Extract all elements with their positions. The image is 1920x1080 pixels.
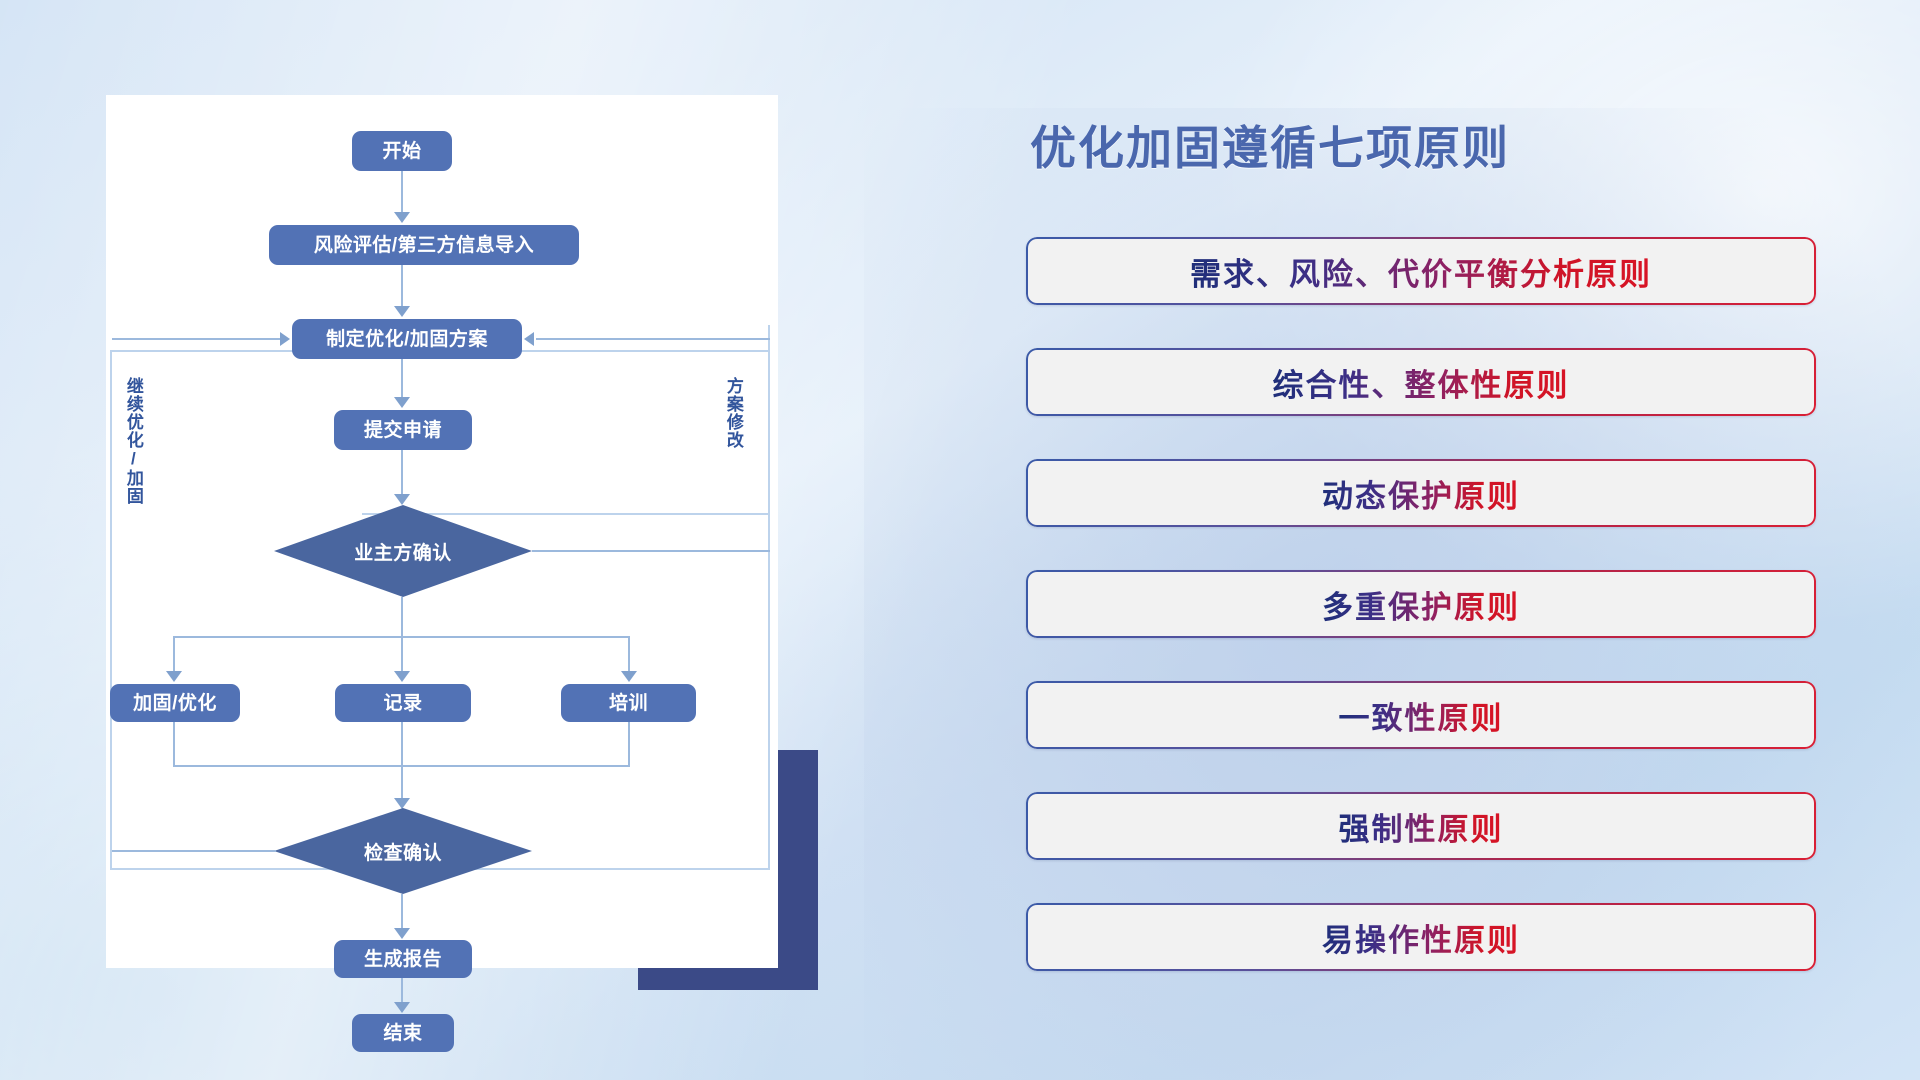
connector-training-merge <box>628 722 630 767</box>
principle-item-5[interactable]: 一致性原则 <box>1026 681 1816 749</box>
flow-node-record-label: 记录 <box>383 694 422 713</box>
principle-item-7[interactable]: 易操作性原则 <box>1026 903 1816 971</box>
connector-bus-training <box>628 636 630 674</box>
principle-label: 综合性、整体性原则 <box>1273 360 1570 405</box>
principle-item-4[interactable]: 多重保护原则 <box>1026 570 1816 638</box>
flow-node-end-label: 结束 <box>383 1024 422 1043</box>
arrowhead-bus-reinforce <box>166 671 182 682</box>
arrowhead-bus-training <box>621 671 637 682</box>
principle-item-1[interactable]: 需求、风险、代价平衡分析原则 <box>1026 237 1816 305</box>
connector-leftloop-plan <box>112 338 280 340</box>
flow-node-plan-label: 制定优化/加固方案 <box>326 330 488 349</box>
connector-check-leftloop <box>112 850 276 852</box>
connector-plan-submit <box>401 359 403 401</box>
arrowhead-rightloop-plan <box>524 332 534 346</box>
flow-node-reinforce-label: 加固/优化 <box>133 694 217 713</box>
flow-node-start[interactable]: 开始 <box>352 131 452 171</box>
connector-bus-reinforce <box>173 636 175 674</box>
flow-node-report-label: 生成报告 <box>364 950 442 969</box>
arrowhead-bus-record <box>394 671 410 682</box>
connector-risk-plan <box>401 265 403 310</box>
flowchart-canvas: 开始 风险评估/第三方信息导入 制定优化/加固方案 <box>106 95 778 968</box>
principle-item-6[interactable]: 强制性原则 <box>1026 792 1816 860</box>
flow-node-start-label: 开始 <box>382 142 421 161</box>
flow-node-plan[interactable]: 制定优化/加固方案 <box>292 319 522 359</box>
connector-rightloop-plan <box>536 338 770 340</box>
connector-owner-rightloop <box>532 550 770 552</box>
flow-node-risk-assessment[interactable]: 风险评估/第三方信息导入 <box>269 225 579 265</box>
connector-check-report <box>401 894 403 932</box>
connector-start-risk <box>401 171 403 216</box>
principle-label: 易操作性原则 <box>1322 915 1520 960</box>
flow-node-submit-label: 提交申请 <box>364 421 442 440</box>
principle-label: 需求、风险、代价平衡分析原则 <box>1190 249 1652 294</box>
arrowhead-check-report <box>394 928 410 939</box>
principle-label: 一致性原则 <box>1339 693 1504 738</box>
connector-record-check <box>401 722 403 802</box>
flow-node-training-label: 培训 <box>609 694 648 713</box>
principle-label: 多重保护原则 <box>1322 582 1520 627</box>
connector-bus-record <box>401 636 403 674</box>
page-title: 优化加固遵循七项原则 <box>1030 112 1510 178</box>
flow-node-risk-assessment-label: 风险评估/第三方信息导入 <box>314 236 534 255</box>
principle-label: 动态保护原则 <box>1322 471 1520 516</box>
flow-node-reinforce[interactable]: 加固/优化 <box>110 684 240 722</box>
loop-label-continue-optimize: 继续优化/加固 <box>124 377 142 557</box>
connector-owner-bus <box>401 597 403 637</box>
arrowhead-risk-plan <box>394 306 410 317</box>
flow-node-record[interactable]: 记录 <box>335 684 471 722</box>
connector-submit-owner <box>401 450 403 498</box>
arrowhead-start-risk <box>394 212 410 223</box>
flow-node-end[interactable]: 结束 <box>352 1014 454 1052</box>
flow-node-owner-confirm-label: 业主方确认 <box>354 538 452 565</box>
principle-item-2[interactable]: 综合性、整体性原则 <box>1026 348 1816 416</box>
principle-label: 强制性原则 <box>1339 804 1504 849</box>
principles-list: 需求、风险、代价平衡分析原则 综合性、整体性原则 动态保护原则 多重保护原则 一… <box>1026 237 1816 971</box>
flow-node-report[interactable]: 生成报告 <box>334 940 472 978</box>
slide-canvas: 开始 风险评估/第三方信息导入 制定优化/加固方案 <box>0 0 1920 1080</box>
principle-item-3[interactable]: 动态保护原则 <box>1026 459 1816 527</box>
flowchart-card: 开始 风险评估/第三方信息导入 制定优化/加固方案 <box>106 95 778 968</box>
flow-node-submit[interactable]: 提交申请 <box>334 410 472 450</box>
arrowhead-plan-submit <box>394 397 410 408</box>
arrowhead-report-end <box>394 1002 410 1013</box>
arrowhead-merge-check <box>394 798 410 809</box>
loop-label-plan-revision: 方案修改 <box>724 377 742 517</box>
flow-node-training[interactable]: 培训 <box>561 684 696 722</box>
flow-node-check-label: 检查确认 <box>364 838 442 865</box>
arrowhead-leftloop-plan <box>280 332 290 346</box>
connector-reinforce-merge <box>173 722 175 767</box>
arrowhead-submit-owner <box>394 494 410 505</box>
